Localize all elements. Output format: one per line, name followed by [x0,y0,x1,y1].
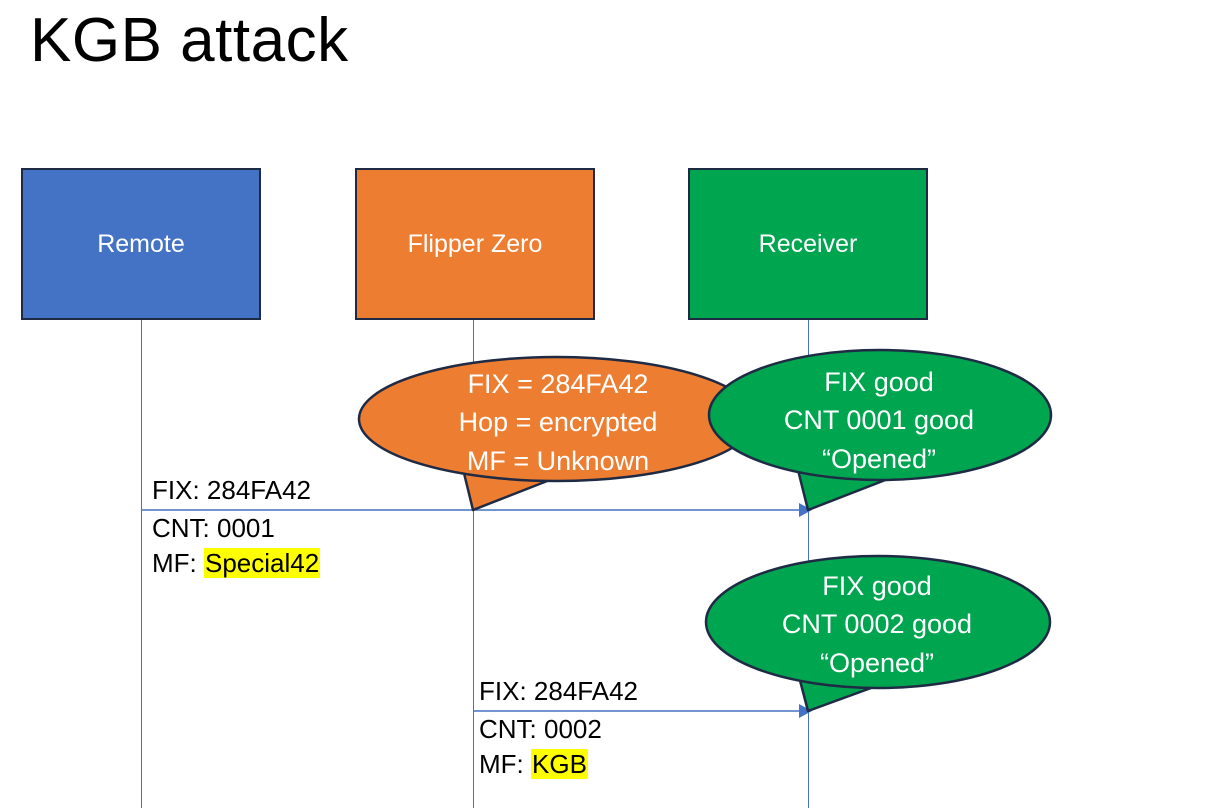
message-2-cnt: CNT: 0002 [479,712,602,747]
message-2-mf: MF: KGB [479,747,602,782]
message-arrow-1-head [799,503,812,517]
callout-receiver-2-line2: CNT 0002 good [712,605,1042,643]
lifeline-remote [141,320,142,808]
actor-label-remote: Remote [97,230,185,259]
callout-receiver-2-text: FIX good CNT 0002 good “Opened” [712,567,1042,682]
message-1-cnt: CNT: 0001 [152,511,320,546]
message-1-mf: MF: Special42 [152,546,320,581]
callout-receiver-1-text: FIX good CNT 0001 good “Opened” [718,363,1040,478]
page-title: KGB attack [30,8,349,73]
callout-flipper-line2: Hop = encrypted [380,403,736,441]
callout-flipper-line1: FIX = 284FA42 [380,365,736,403]
message-1-label-below: CNT: 0001 MF: Special42 [152,511,320,580]
callout-receiver-1-line2: CNT 0001 good [718,401,1040,439]
actor-box-receiver[interactable]: Receiver [688,168,928,320]
actor-label-receiver: Receiver [759,230,858,259]
actor-label-flipper: Flipper Zero [408,230,543,259]
callout-receiver-1-line1: FIX good [718,363,1040,401]
actor-box-remote[interactable]: Remote [21,168,261,320]
actor-box-flipper[interactable]: Flipper Zero [355,168,595,320]
message-1-mf-value: Special42 [204,548,320,578]
message-2-label-below: CNT: 0002 MF: KGB [479,712,602,781]
message-1-mf-prefix: MF: [152,548,204,578]
message-1-label-above: FIX: 284FA42 [152,473,311,508]
callout-flipper-line3: MF = Unknown [380,442,736,480]
slide-canvas: KGB attack Remote Flipper Zero Receiver [0,0,1218,808]
callout-flipper-text: FIX = 284FA42 Hop = encrypted MF = Unkno… [380,365,736,480]
callout-receiver-1-line3: “Opened” [718,440,1040,478]
message-2-mf-prefix: MF: [479,749,531,779]
message-arrow-2-head [799,704,812,718]
callout-receiver-2-line3: “Opened” [712,644,1042,682]
message-2-label-above: FIX: 284FA42 [479,674,638,709]
message-2-mf-value: KGB [531,749,588,779]
callout-receiver-2-line1: FIX good [712,567,1042,605]
